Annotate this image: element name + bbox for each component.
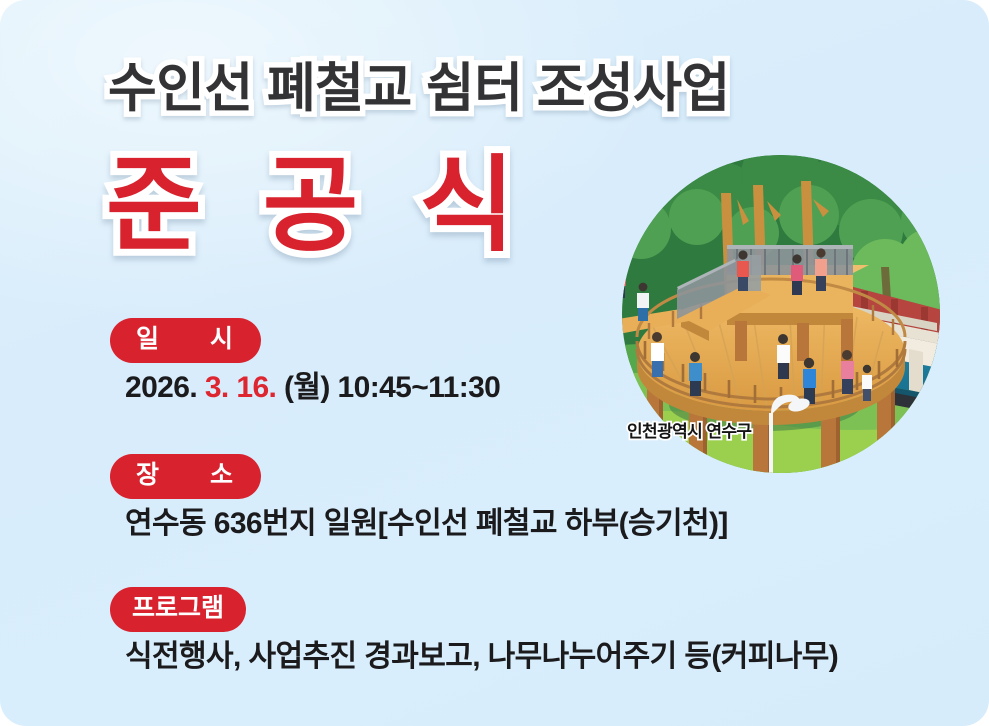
badge-place: 장 소: [110, 454, 261, 499]
info-row-datetime: 일 시 2026. 3. 16. (월) 10:45~11:30: [0, 318, 700, 406]
poster-subtitle: 수인선 폐철교 쉼터 조성사업: [108, 62, 730, 115]
page-title: 준 공 식: [106, 154, 531, 258]
info-section: 일 시 2026. 3. 16. (월) 10:45~11:30 장 소 연수동…: [0, 318, 700, 675]
datetime-value: 2026. 3. 16. (월) 10:45~11:30: [125, 371, 700, 406]
program-value: 식전행사, 사업추진 경과보고, 나무나누어주기 등(커피나무): [125, 640, 700, 675]
info-row-program: 프로그램 식전행사, 사업추진 경과보고, 나무나누어주기 등(커피나무): [0, 587, 700, 675]
place-value: 연수동 636번지 일원[수인선 폐철교 하부(승기천)]: [125, 507, 700, 542]
info-row-place: 장 소 연수동 636번지 일원[수인선 폐철교 하부(승기천)]: [0, 454, 700, 542]
badge-program: 프로그램: [110, 587, 246, 632]
date-prefix: 2026.: [125, 371, 205, 404]
date-highlight: 3. 16.: [205, 371, 284, 404]
date-suffix: (월) 10:45~11:30: [284, 371, 500, 404]
event-poster: 인천광역시 연수구 수인선 폐철교 쉼터 조성사업 준 공 식 일 시 2026…: [0, 0, 989, 726]
badge-datetime: 일 시: [110, 318, 261, 363]
